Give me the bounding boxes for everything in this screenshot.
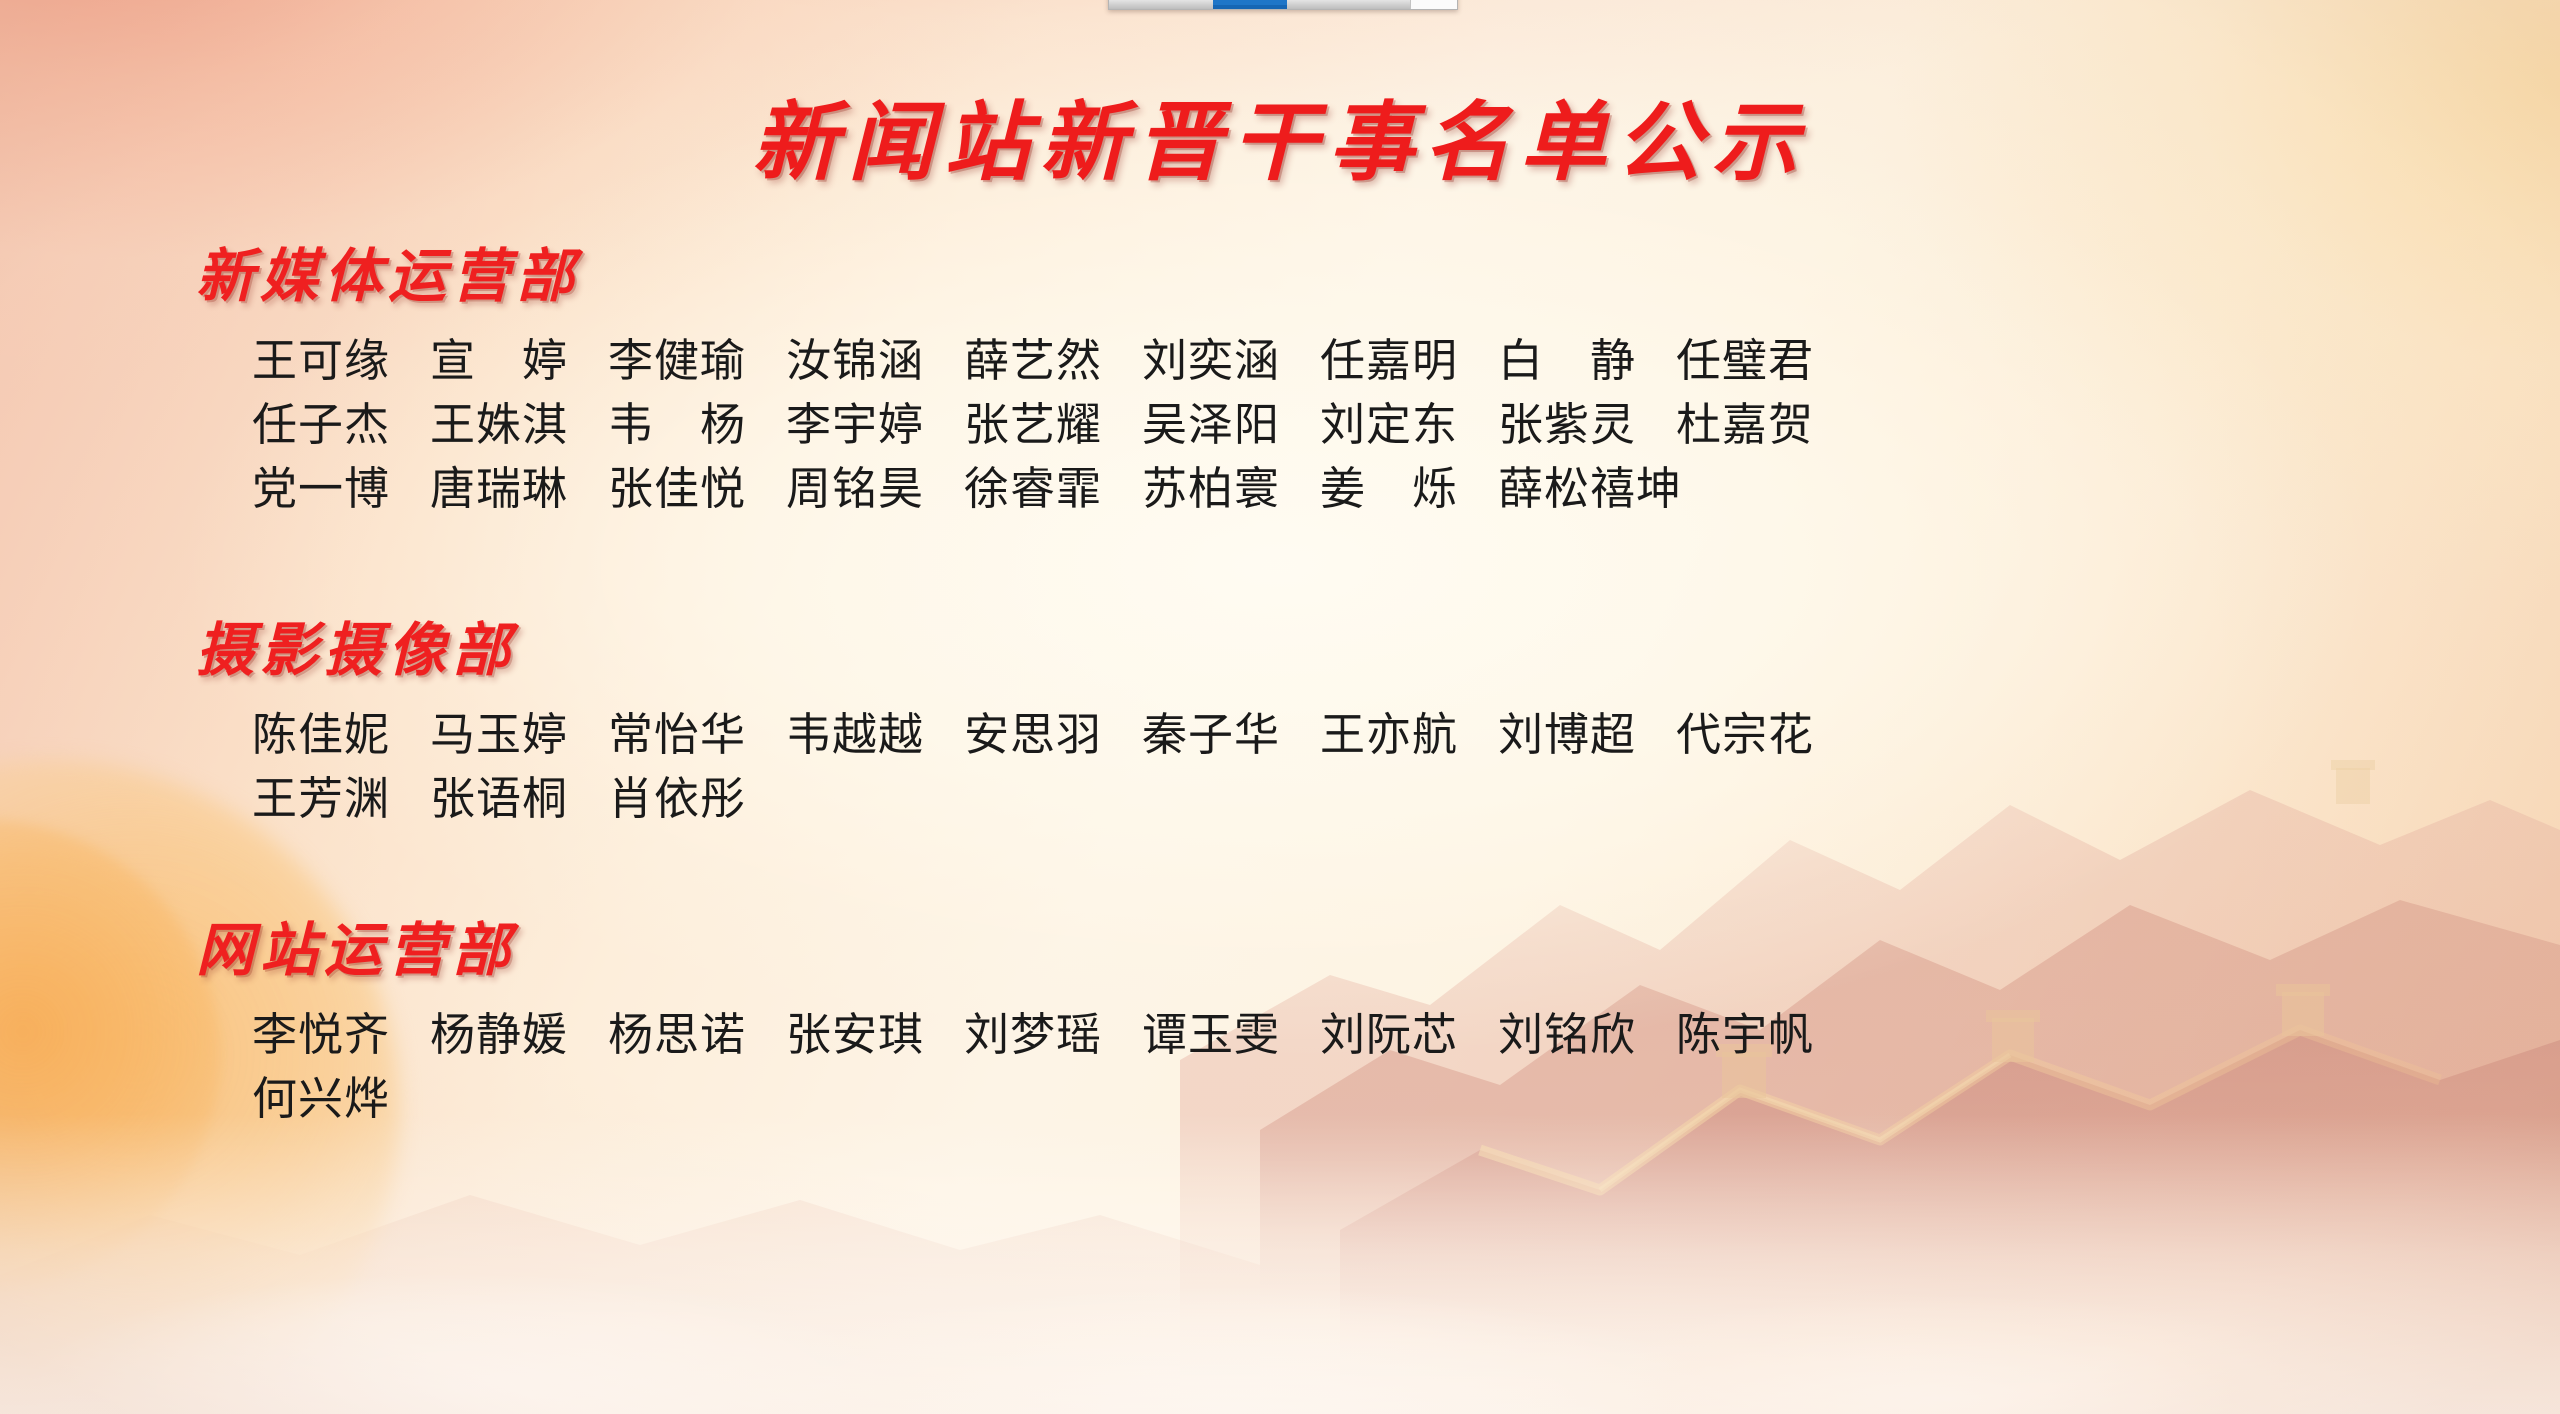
slide-title: 新闻站新晋干事名单公示 (0, 72, 2560, 197)
name-cell: 李宇婷 (786, 393, 964, 457)
name-cell: 白静 (1498, 329, 1676, 393)
name-cell: 宣婷 (430, 329, 608, 393)
name-cell: 党一博 (252, 457, 430, 521)
slide-content: 新闻站新晋干事名单公示 新媒体运营部 王可缘宣婷李健瑜汝锦涵薛艺然刘奕涵任嘉明白… (0, 0, 2560, 1414)
name-cell: 常怡华 (608, 703, 786, 767)
name-cell: 任子杰 (252, 393, 430, 457)
name-row: 陈佳妮马玉婷常怡华韦越越安思羽秦子华王亦航刘博超代宗花 (252, 703, 2440, 767)
name-list-photography-videography: 陈佳妮马玉婷常怡华韦越越安思羽秦子华王亦航刘博超代宗花王芳渊张语桐肖依彤 (252, 703, 2440, 831)
section-title-photography-videography: 摄影摄像部 (196, 620, 2440, 681)
name-cell: 杜嘉贺 (1676, 393, 1854, 457)
name-cell: 刘博超 (1498, 703, 1676, 767)
name-cell: 徐睿霏 (964, 457, 1142, 521)
name-cell: 马玉婷 (430, 703, 608, 767)
name-cell: 代宗花 (1676, 703, 1854, 767)
name-cell: 刘铭欣 (1498, 1003, 1676, 1067)
name-cell: 刘奕涵 (1142, 329, 1320, 393)
name-cell: 张安琪 (786, 1003, 964, 1067)
name-cell: 王姝淇 (430, 393, 608, 457)
name-row: 任子杰王姝淇韦杨李宇婷张艺耀吴泽阳刘定东张紫灵杜嘉贺 (252, 393, 2440, 457)
name-cell: 汝锦涵 (786, 329, 964, 393)
name-cell: 吴泽阳 (1142, 393, 1320, 457)
name-cell: 杨思诺 (608, 1003, 786, 1067)
name-cell: 姜烁 (1320, 457, 1498, 521)
name-list-new-media-operations: 王可缘宣婷李健瑜汝锦涵薛艺然刘奕涵任嘉明白静任璧君任子杰王姝淇韦杨李宇婷张艺耀吴… (252, 329, 2440, 521)
name-row: 何兴烨 (252, 1067, 2440, 1131)
name-cell: 肖依彤 (608, 767, 786, 831)
name-cell: 安思羽 (964, 703, 1142, 767)
name-cell: 周铭昊 (786, 457, 964, 521)
name-cell: 王亦航 (1320, 703, 1498, 767)
name-list-website-operations: 李悦齐杨静媛杨思诺张安琪刘梦瑶谭玉雯刘阮芯刘铭欣陈宇帆何兴烨 (252, 1003, 2440, 1131)
name-cell: 张艺耀 (964, 393, 1142, 457)
name-cell: 唐瑞琳 (430, 457, 608, 521)
name-cell: 何兴烨 (252, 1067, 430, 1131)
name-cell: 刘定东 (1320, 393, 1498, 457)
name-cell: 韦杨 (608, 393, 786, 457)
name-cell: 张紫灵 (1498, 393, 1676, 457)
name-cell: 张佳悦 (608, 457, 786, 521)
name-cell: 陈宇帆 (1676, 1003, 1854, 1067)
name-row: 王可缘宣婷李健瑜汝锦涵薛艺然刘奕涵任嘉明白静任璧君 (252, 329, 2440, 393)
name-row: 王芳渊张语桐肖依彤 (252, 767, 2440, 831)
name-row: 党一博唐瑞琳张佳悦周铭昊徐睿霏苏柏寰姜烁薛松禧坤 (252, 457, 2440, 521)
name-cell: 张语桐 (430, 767, 608, 831)
name-cell: 陈佳妮 (252, 703, 430, 767)
section-title-website-operations: 网站运营部 (196, 920, 2440, 981)
name-cell: 杨静媛 (430, 1003, 608, 1067)
name-cell: 薛松禧坤 (1498, 457, 1682, 521)
name-cell: 任璧君 (1676, 329, 1854, 393)
section-photography-videography: 摄影摄像部 陈佳妮马玉婷常怡华韦越越安思羽秦子华王亦航刘博超代宗花王芳渊张语桐肖… (196, 620, 2440, 831)
name-cell: 王可缘 (252, 329, 430, 393)
name-cell: 王芳渊 (252, 767, 430, 831)
name-cell: 李健瑜 (608, 329, 786, 393)
name-row: 李悦齐杨静媛杨思诺张安琪刘梦瑶谭玉雯刘阮芯刘铭欣陈宇帆 (252, 1003, 2440, 1067)
name-cell: 韦越越 (786, 703, 964, 767)
section-title-new-media-operations: 新媒体运营部 (196, 246, 2440, 307)
section-website-operations: 网站运营部 李悦齐杨静媛杨思诺张安琪刘梦瑶谭玉雯刘阮芯刘铭欣陈宇帆何兴烨 (196, 920, 2440, 1131)
name-cell: 苏柏寰 (1142, 457, 1320, 521)
name-cell: 刘阮芯 (1320, 1003, 1498, 1067)
name-cell: 刘梦瑶 (964, 1003, 1142, 1067)
name-cell: 李悦齐 (252, 1003, 430, 1067)
name-cell: 任嘉明 (1320, 329, 1498, 393)
name-cell: 谭玉雯 (1142, 1003, 1320, 1067)
name-cell: 秦子华 (1142, 703, 1320, 767)
section-new-media-operations: 新媒体运营部 王可缘宣婷李健瑜汝锦涵薛艺然刘奕涵任嘉明白静任璧君任子杰王姝淇韦杨… (196, 246, 2440, 521)
name-cell: 薛艺然 (964, 329, 1142, 393)
presentation-slide: 新闻站新晋干事名单公示 新媒体运营部 王可缘宣婷李健瑜汝锦涵薛艺然刘奕涵任嘉明白… (0, 0, 2560, 1414)
